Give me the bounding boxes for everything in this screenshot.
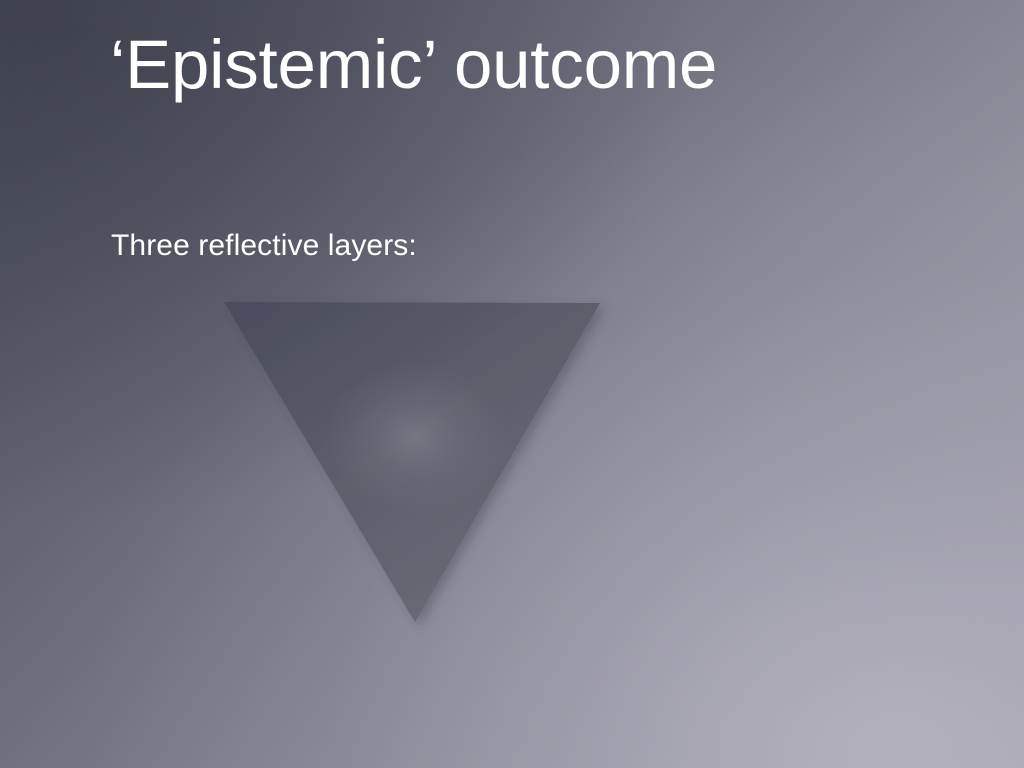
inverted-triangle-shape: [224, 302, 600, 622]
slide-canvas: ‘Epistemic’ outcome Three reflective lay…: [0, 0, 1024, 768]
page-title: ‘Epistemic’ outcome: [110, 28, 970, 101]
triangle-inner-highlight: [301, 352, 531, 542]
triangle-diagram: [0, 0, 1024, 768]
slide-subtitle: Three reflective layers:: [111, 228, 417, 264]
inverted-triangle-group: [224, 302, 600, 622]
background-sheen: [0, 0, 1024, 768]
